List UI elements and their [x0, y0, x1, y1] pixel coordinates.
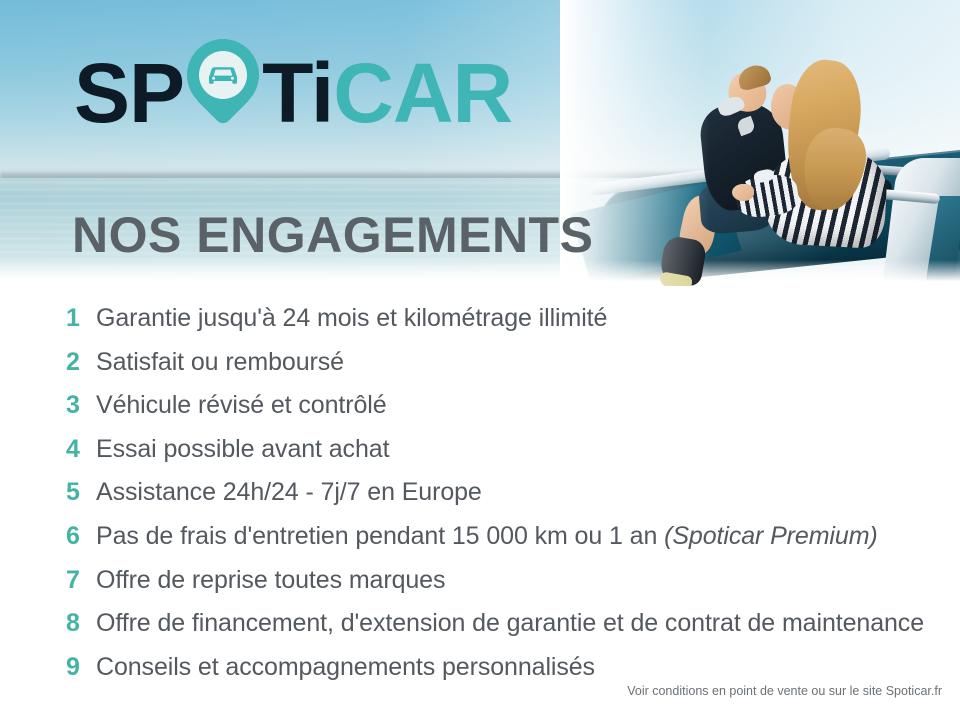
- logo-text-sp: SP: [74, 51, 184, 135]
- list-item: 7 Offre de reprise toutes marques: [0, 566, 960, 610]
- logo-text-car: CAR: [333, 51, 512, 135]
- list-item-number: 2: [66, 348, 96, 377]
- spoticar-commitments-poster: SP Ti CAR NOS ENGAGEMENTS: [0, 0, 960, 720]
- list-item-number: 4: [66, 435, 96, 464]
- list-item: 2 Satisfait ou remboursé: [0, 348, 960, 392]
- page-title: NOS ENGAGEMENTS: [72, 206, 593, 264]
- map-pin-car-icon: [184, 38, 262, 122]
- child-hair-shape: [736, 62, 773, 92]
- list-item: 3 Véhicule révisé et contrôlé: [0, 391, 960, 435]
- list-item-label: Satisfait ou remboursé: [96, 348, 344, 377]
- list-item-label: Assistance 24h/24 - 7j/7 en Europe: [96, 478, 482, 507]
- list-item-number: 8: [66, 609, 96, 638]
- spoticar-logo[interactable]: SP Ti CAR: [74, 44, 512, 128]
- logo-text-ti: Ti: [262, 51, 333, 135]
- commitments-list: 1 Garantie jusqu'à 24 mois et kilométrag…: [0, 304, 960, 696]
- list-item: 6 Pas de frais d'entretien pendant 15 00…: [0, 522, 960, 566]
- list-item-label: Garantie jusqu'à 24 mois et kilométrage …: [96, 304, 607, 333]
- list-item: 8 Offre de financement, d'extension de g…: [0, 609, 960, 653]
- list-item-number: 3: [66, 391, 96, 420]
- hero-photo-woman-child-on-car: [560, 0, 960, 286]
- list-item-label: Offre de reprise toutes marques: [96, 566, 445, 595]
- woman-hand-shape: [732, 184, 754, 201]
- legal-fineprint: Voir conditions en point de vente ou sur…: [627, 684, 942, 698]
- list-item-label: Essai possible avant achat: [96, 435, 389, 464]
- list-item: 1 Garantie jusqu'à 24 mois et kilométrag…: [0, 304, 960, 348]
- list-item-label: Offre de financement, d'extension de gar…: [96, 609, 924, 638]
- list-item-number: 7: [66, 566, 96, 595]
- list-item-number: 1: [66, 304, 96, 333]
- list-item-label: Pas de frais d'entretien pendant 15 000 …: [96, 522, 878, 551]
- list-item: 4 Essai possible avant achat: [0, 435, 960, 479]
- list-item-number: 5: [66, 478, 96, 507]
- list-item-number: 6: [66, 522, 96, 551]
- list-item-label: Conseils et accompagnements personnalisé…: [96, 653, 595, 682]
- list-item-label: Véhicule révisé et contrôlé: [96, 391, 387, 420]
- list-item-number: 9: [66, 653, 96, 682]
- list-item: 5 Assistance 24h/24 - 7j/7 en Europe: [0, 478, 960, 522]
